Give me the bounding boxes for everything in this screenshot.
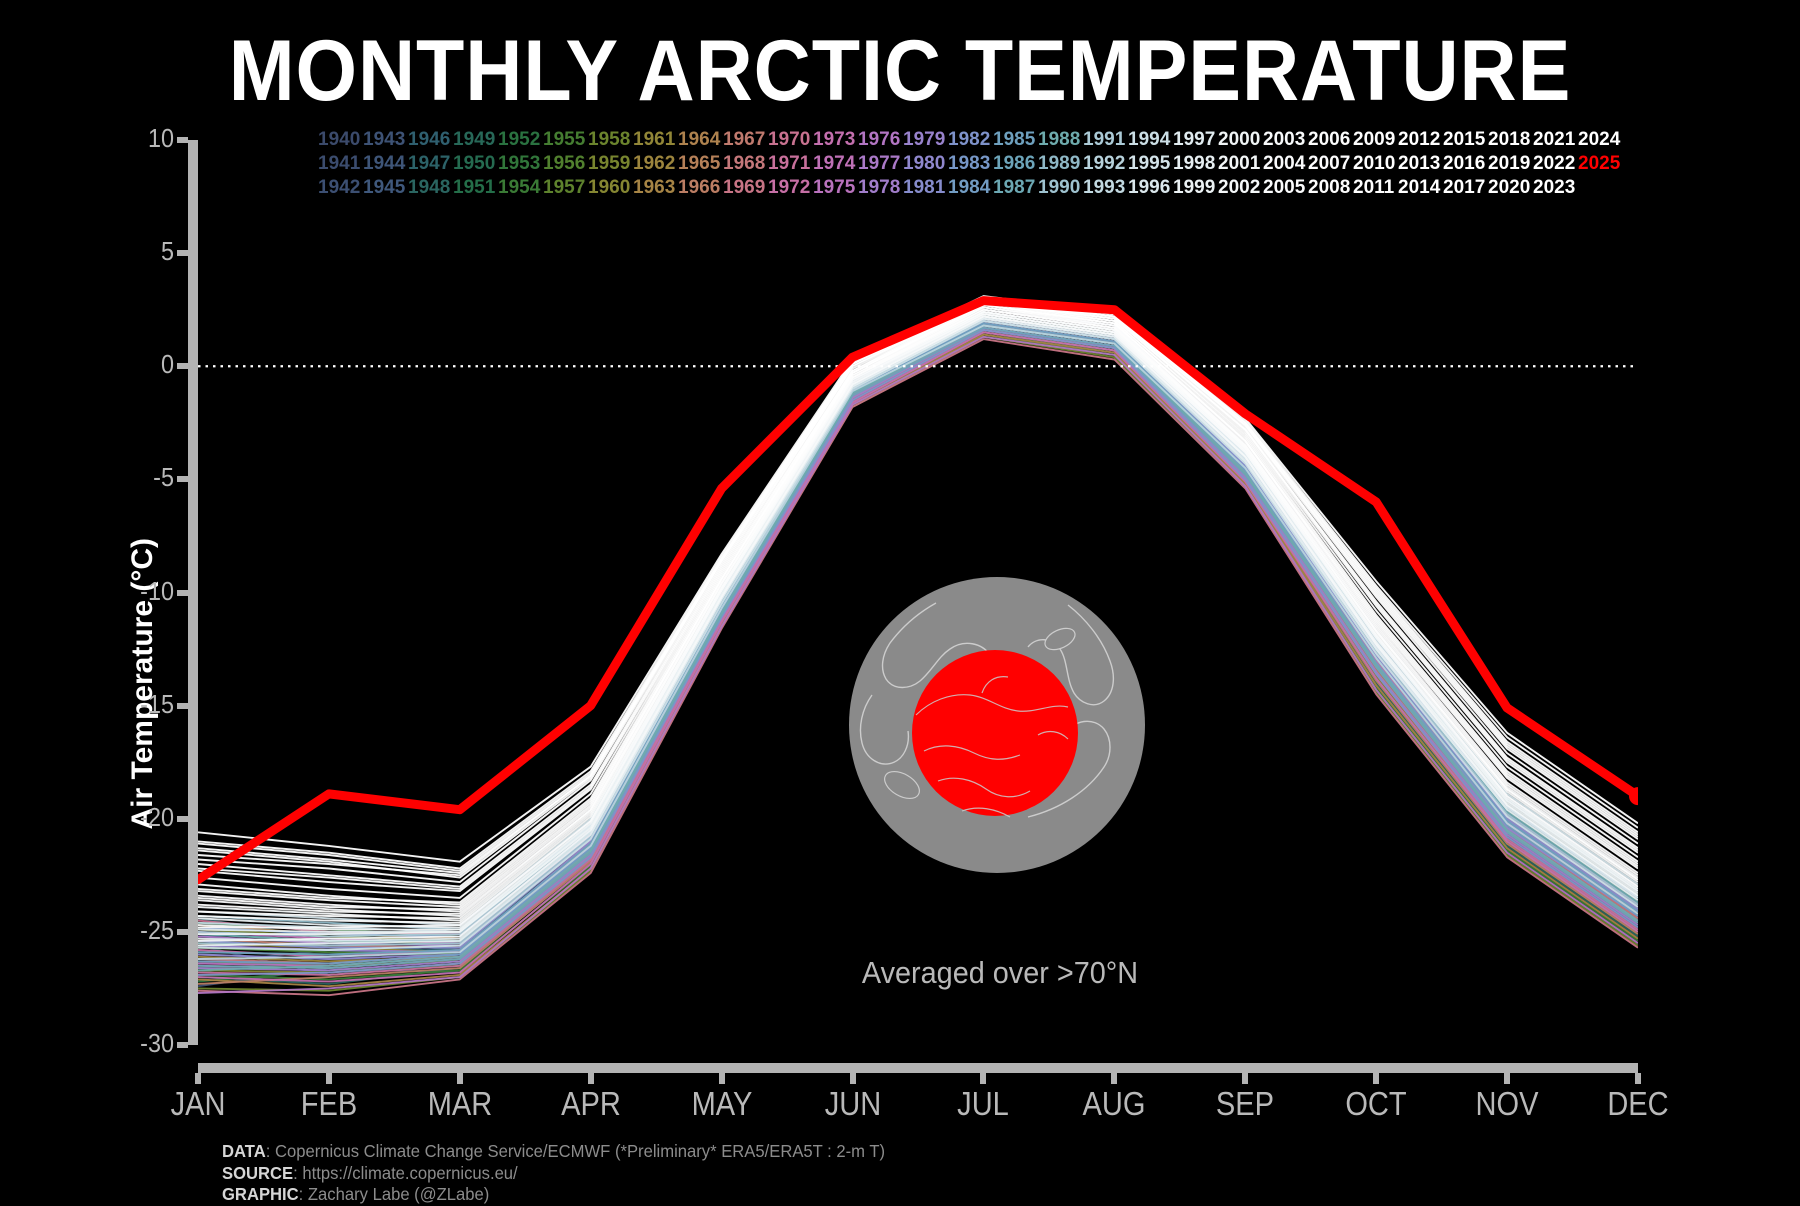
y-tick-label: -30 bbox=[106, 1028, 174, 1059]
x-tick-label-oct: OCT bbox=[1306, 1085, 1447, 1123]
x-tick-mark bbox=[850, 1073, 856, 1084]
x-tick-label-sep: SEP bbox=[1175, 1085, 1316, 1123]
footer-source-key: SOURCE bbox=[222, 1163, 293, 1183]
x-tick-label-mar: MAR bbox=[389, 1085, 530, 1123]
y-tick-label: 0 bbox=[106, 349, 174, 380]
footer-graphic-line: GRAPHIC: Zachary Labe (@ZLabe) bbox=[222, 1184, 885, 1206]
x-tick-label-nov: NOV bbox=[1437, 1085, 1578, 1123]
x-tick-mark bbox=[1373, 1073, 1379, 1084]
footer-data-key: DATA bbox=[222, 1141, 266, 1161]
y-tick-mark bbox=[177, 476, 188, 482]
x-tick-label-aug: AUG bbox=[1044, 1085, 1185, 1123]
y-tick-mark bbox=[177, 1042, 188, 1048]
y-tick-label: -15 bbox=[106, 689, 174, 720]
y-tick-label: 10 bbox=[106, 123, 174, 154]
inset-map-svg bbox=[832, 575, 1162, 905]
region-highlight-70n bbox=[912, 650, 1078, 816]
page-title: MONTHLY ARCTIC TEMPERATURE bbox=[72, 22, 1728, 121]
x-tick-mark bbox=[1635, 1073, 1641, 1084]
x-tick-mark bbox=[980, 1073, 986, 1084]
x-tick-mark bbox=[195, 1073, 201, 1084]
y-tick-mark bbox=[177, 816, 188, 822]
x-tick-mark bbox=[1242, 1073, 1248, 1084]
x-tick-mark bbox=[719, 1073, 725, 1084]
footer-credits: DATA: Copernicus Climate Change Service/… bbox=[222, 1141, 920, 1206]
y-tick-mark bbox=[177, 250, 188, 256]
y-tick-mark bbox=[177, 590, 188, 596]
x-tick-label-jun: JUN bbox=[782, 1085, 923, 1123]
x-tick-label-may: MAY bbox=[651, 1085, 792, 1123]
footer-graphic-value: : Zachary Labe (@ZLabe) bbox=[299, 1184, 490, 1204]
x-tick-label-feb: FEB bbox=[259, 1085, 400, 1123]
y-tick-label: -5 bbox=[106, 462, 174, 493]
y-tick-mark bbox=[177, 929, 188, 935]
chart-canvas: MONTHLY ARCTIC TEMPERATURE 1940194319461… bbox=[0, 0, 1800, 1200]
x-axis-spine bbox=[198, 1063, 1638, 1073]
y-tick-label: 5 bbox=[106, 236, 174, 267]
footer-graphic-key: GRAPHIC bbox=[222, 1184, 299, 1204]
y-tick-label: -20 bbox=[106, 802, 174, 833]
x-tick-mark bbox=[588, 1073, 594, 1084]
x-tick-label-apr: APR bbox=[520, 1085, 661, 1123]
footer-data-line: DATA: Copernicus Climate Change Service/… bbox=[222, 1141, 885, 1163]
footer-data-value: : Copernicus Climate Change Service/ECMW… bbox=[266, 1141, 885, 1161]
x-tick-mark bbox=[326, 1073, 332, 1084]
y-tick-label: -25 bbox=[106, 915, 174, 946]
y-tick-mark bbox=[177, 137, 188, 143]
y-axis-spine bbox=[188, 140, 198, 1045]
x-tick-label-dec: DEC bbox=[1568, 1085, 1709, 1123]
x-tick-mark bbox=[457, 1073, 463, 1084]
footer-source-value: : https://climate.copernicus.eu/ bbox=[293, 1163, 518, 1183]
footer-source-line: SOURCE: https://climate.copernicus.eu/ bbox=[222, 1163, 885, 1185]
y-tick-mark bbox=[177, 703, 188, 709]
x-tick-label-jul: JUL bbox=[913, 1085, 1054, 1123]
y-tick-label: -10 bbox=[106, 576, 174, 607]
arctic-inset-map bbox=[832, 575, 1162, 905]
x-tick-mark bbox=[1111, 1073, 1117, 1084]
y-tick-mark bbox=[177, 363, 188, 369]
x-tick-label-jan: JAN bbox=[128, 1085, 269, 1123]
inset-caption: Averaged over >70°N bbox=[721, 955, 1279, 991]
x-tick-mark bbox=[1504, 1073, 1510, 1084]
